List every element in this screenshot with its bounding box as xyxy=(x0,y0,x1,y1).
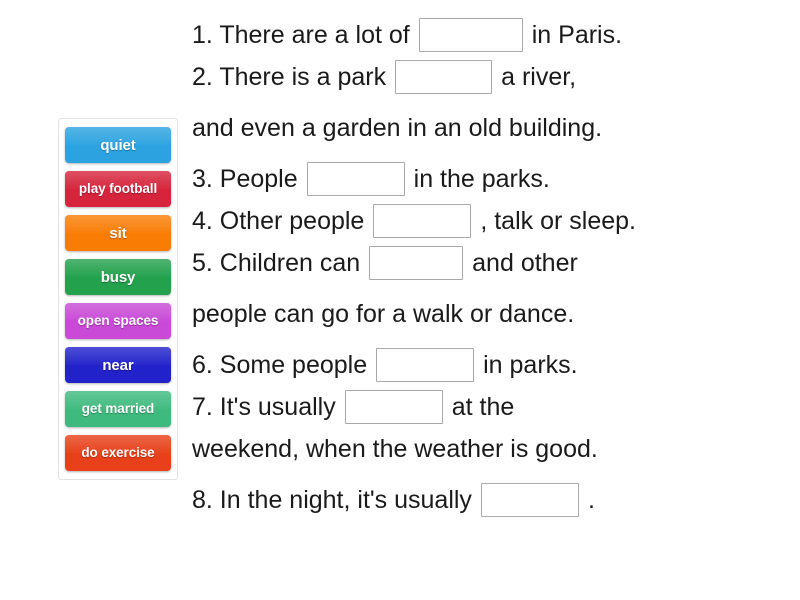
sentence-text-after: a river, xyxy=(501,65,576,90)
sentence-text-after: . xyxy=(588,488,595,513)
answer-drop-blank[interactable] xyxy=(395,60,492,94)
sentence-line: weekend, when the weather is good. xyxy=(192,428,752,470)
word-tile-label: near xyxy=(102,358,133,373)
sentence-text-before: people can go for a walk or dance. xyxy=(192,302,574,327)
sentence-line: 7. It's usuallyat the xyxy=(192,386,752,428)
word-tile-do-exercise[interactable]: do exercise xyxy=(65,435,171,471)
sentence-line: 1. There are a lot ofin Paris. xyxy=(192,14,752,56)
sentence-text-after: , talk or sleep. xyxy=(480,209,636,234)
sentence-text-after: in parks. xyxy=(483,353,577,378)
sentence-line: 4. Other people, talk or sleep. xyxy=(192,200,752,242)
word-tile-label: do exercise xyxy=(81,446,154,460)
sentence-text-before: 7. It's usually xyxy=(192,395,336,420)
exercise-page: quietplay footballsitbusyopen spacesnear… xyxy=(0,0,800,600)
sentence-text-before: 2. There is a park xyxy=(192,65,386,90)
word-tile-near[interactable]: near xyxy=(65,347,171,383)
sentence-text-before: weekend, when the weather is good. xyxy=(192,437,598,462)
word-bank: quietplay footballsitbusyopen spacesnear… xyxy=(58,118,178,480)
word-tile-sit[interactable]: sit xyxy=(65,215,171,251)
answer-drop-blank[interactable] xyxy=(419,18,523,52)
sentence-line: 5. Children canand other xyxy=(192,242,752,284)
word-tile-label: sit xyxy=(109,226,126,241)
sentence-text-before: 5. Children can xyxy=(192,251,360,276)
sentence-line: 2. There is a parka river, xyxy=(192,56,752,98)
sentence-text-before: 6. Some people xyxy=(192,353,367,378)
sentence-text-before: and even a garden in an old building. xyxy=(192,116,602,141)
answer-drop-blank[interactable] xyxy=(345,390,443,424)
sentence-text-after: in Paris. xyxy=(532,23,622,48)
sentence-line: people can go for a walk or dance. xyxy=(192,293,752,335)
word-tile-busy[interactable]: busy xyxy=(65,259,171,295)
sentence-text-after: and other xyxy=(472,251,578,276)
answer-drop-blank[interactable] xyxy=(307,162,405,196)
sentence-text-before: 4. Other people xyxy=(192,209,364,234)
sentence-line: and even a garden in an old building. xyxy=(192,107,752,149)
word-tile-label: open spaces xyxy=(78,314,159,328)
word-tile-label: quiet xyxy=(100,138,135,153)
sentence-line: 3. Peoplein the parks. xyxy=(192,158,752,200)
sentence-text-before: 1. There are a lot of xyxy=(192,23,410,48)
sentence-text-after: at the xyxy=(452,395,515,420)
answer-drop-blank[interactable] xyxy=(481,483,579,517)
sentence-text-after: in the parks. xyxy=(414,167,550,192)
sentence-line: 8. In the night, it's usually. xyxy=(192,479,752,521)
answer-drop-blank[interactable] xyxy=(376,348,474,382)
answer-drop-blank[interactable] xyxy=(373,204,471,238)
word-tile-get-married[interactable]: get married xyxy=(65,391,171,427)
sentence-text-before: 8. In the night, it's usually xyxy=(192,488,472,513)
word-tile-label: play football xyxy=(79,182,157,196)
word-tile-label: get married xyxy=(82,402,154,416)
word-tile-label: busy xyxy=(101,270,136,285)
sentence-line: 6. Some peoplein parks. xyxy=(192,344,752,386)
sentence-text-before: 3. People xyxy=(192,167,298,192)
word-tile-quiet[interactable]: quiet xyxy=(65,127,171,163)
word-tile-open-spaces[interactable]: open spaces xyxy=(65,303,171,339)
answer-drop-blank[interactable] xyxy=(369,246,463,280)
word-tile-play-football[interactable]: play football xyxy=(65,171,171,207)
sentence-list: 1. There are a lot ofin Paris.2. There i… xyxy=(192,14,752,521)
